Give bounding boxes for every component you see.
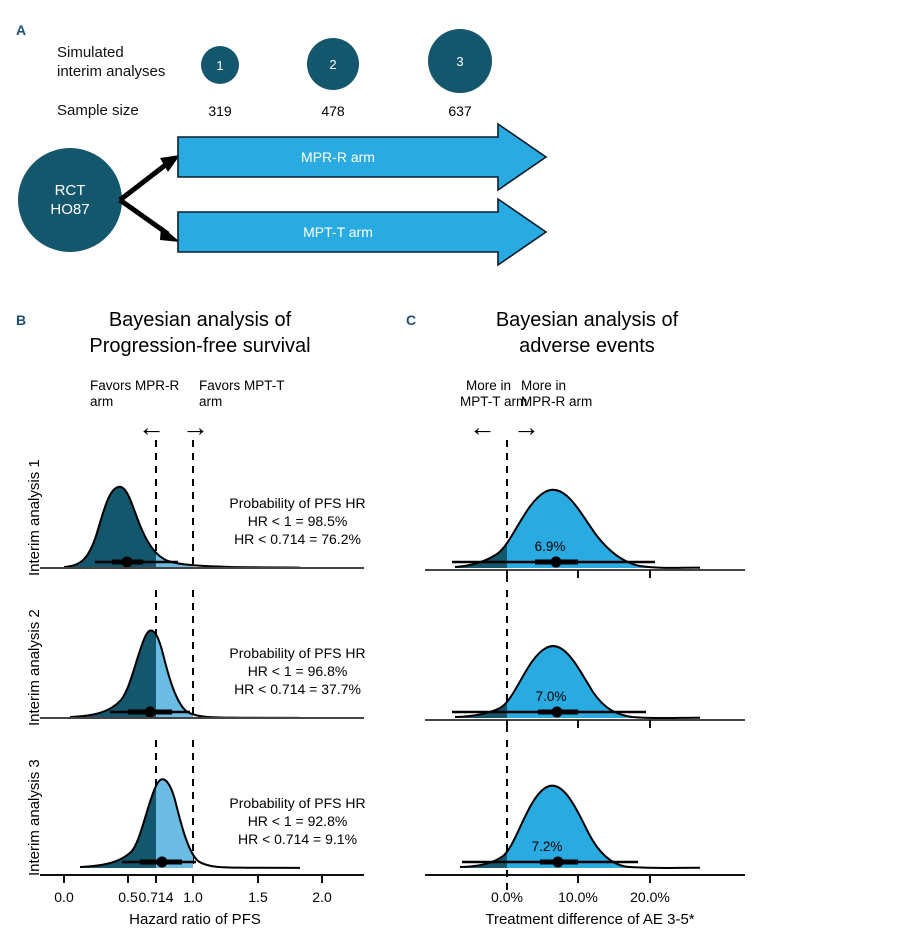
panel-c-plot (0, 0, 919, 942)
panel-c-point-estimate-1: 6.9% (515, 539, 585, 554)
panel-c-row3-density-light (460, 786, 700, 868)
panel-c-row2-density-light (455, 646, 700, 718)
panel-c-row2-median-dot (552, 707, 563, 718)
panel-c-ticklabel-0: 0.0% (477, 889, 537, 905)
panel-c-row1-median-dot (551, 557, 562, 568)
panel-c-row3-median-dot (553, 857, 564, 868)
panel-c-ticklabel-1: 10.0% (544, 889, 612, 905)
panel-c-axis-title: Treatment difference of AE 3-5* (455, 911, 725, 928)
panel-c-point-estimate-2: 7.0% (516, 689, 586, 704)
figure-canvas: A Simulated interim analyses Sample size… (0, 0, 919, 942)
panel-c-point-estimate-3: 7.2% (512, 839, 582, 854)
panel-c-ticklabel-2: 20.0% (616, 889, 684, 905)
